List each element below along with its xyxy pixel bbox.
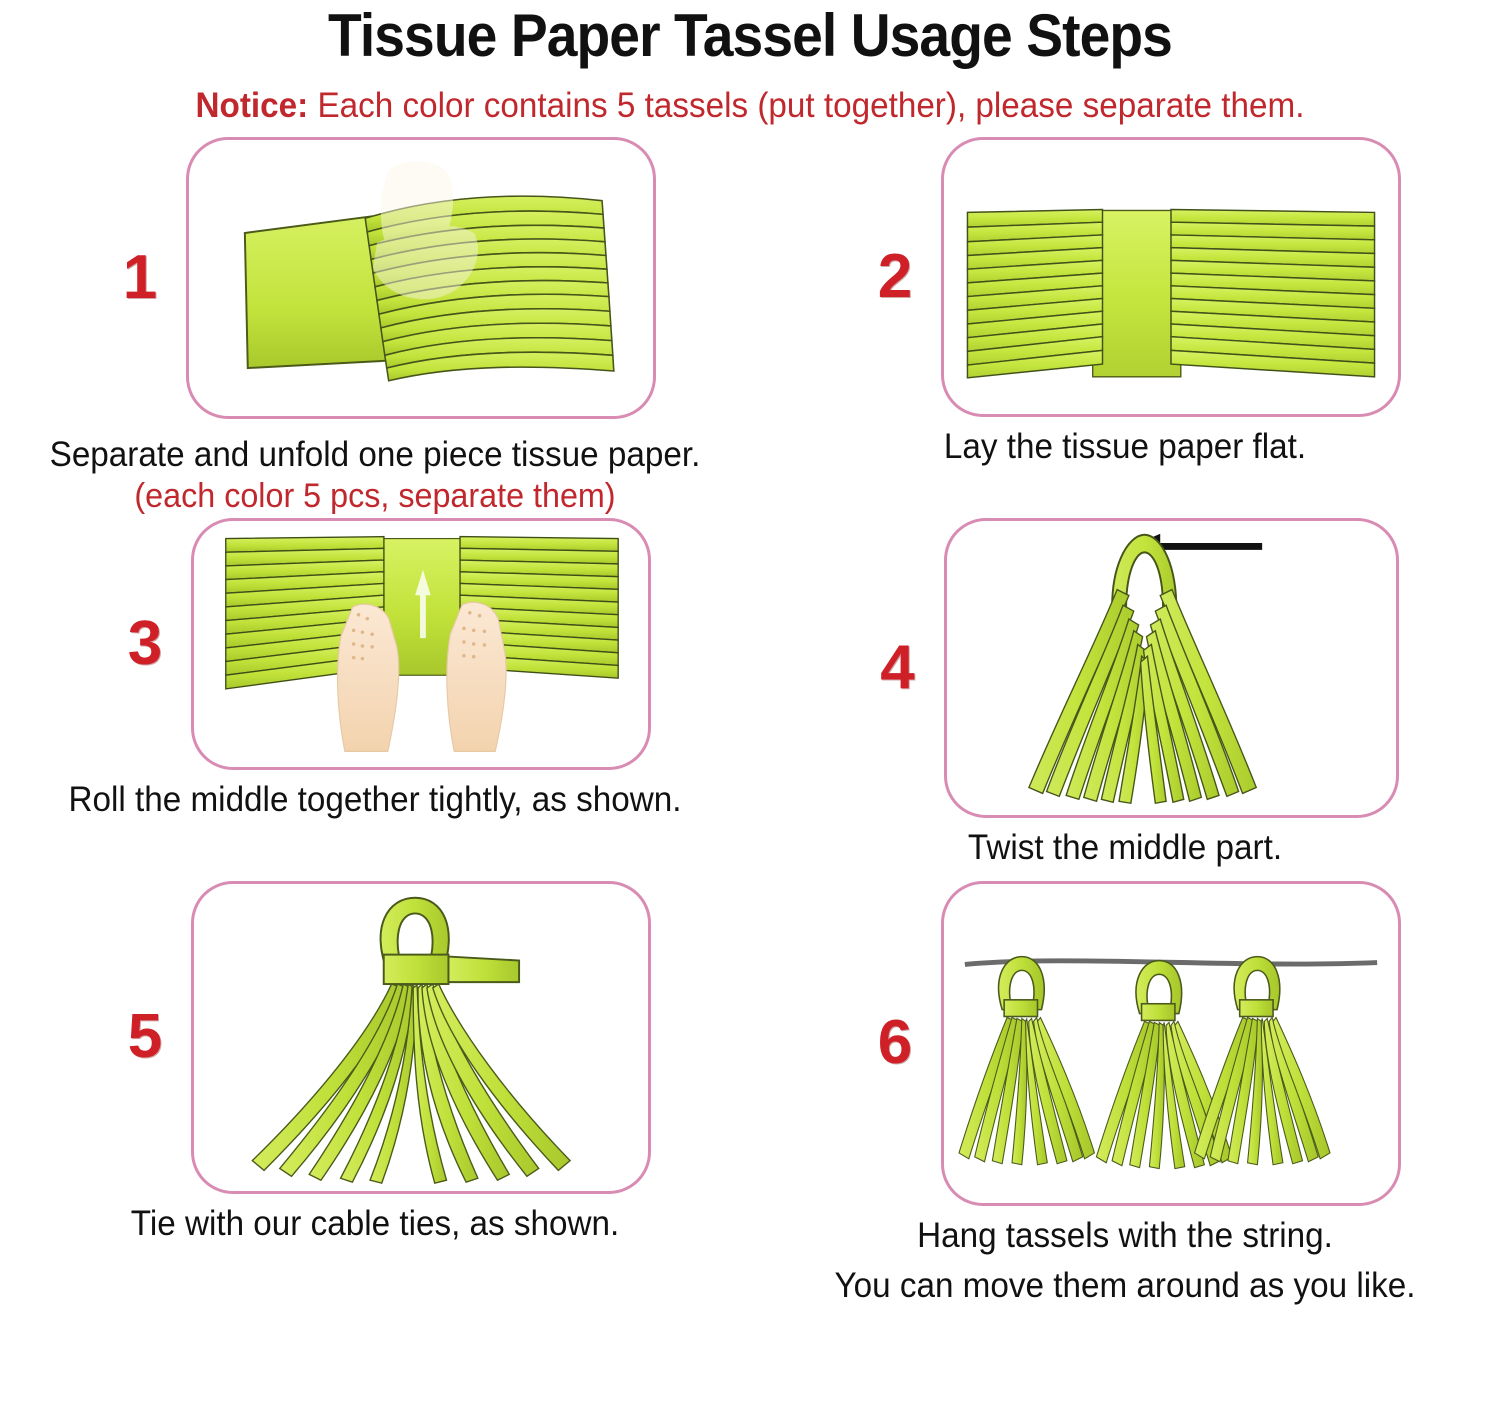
- step-cell-4: 4: [750, 518, 1500, 868]
- cable-tie: [384, 954, 519, 983]
- step-illustration-2: [941, 137, 1401, 417]
- step-number-6: 6: [849, 1012, 941, 1074]
- step-caption-1: Separate and unfold one piece tissue pap…: [19, 435, 732, 475]
- flat-fringed-tissue-icon: [944, 140, 1398, 414]
- step-number-4: 4: [852, 637, 944, 699]
- step-cell-3: 3: [0, 518, 750, 868]
- step-caption-4: Twist the middle part.: [769, 828, 1482, 868]
- step-illustration-1: [186, 137, 656, 419]
- step-number-2: 2: [849, 246, 941, 308]
- folded-tassel-loop-with-arrow-icon: [947, 521, 1396, 815]
- step-caption-sub-6: You can move them around as you like.: [769, 1266, 1482, 1306]
- notice-line: Notice: Each color contains 5 tassels (p…: [38, 88, 1463, 123]
- step-number-3: 3: [99, 613, 191, 675]
- step-illustration-3: [191, 518, 651, 770]
- tassel: [959, 956, 1094, 1164]
- steps-grid: 1: [0, 137, 1500, 1306]
- step-cell-1: 1: [0, 137, 750, 516]
- notice-label: Notice:: [196, 86, 309, 125]
- step-illustration-4: [944, 518, 1399, 818]
- step-illustration-5: [191, 881, 651, 1194]
- step-cell-5: 5: [0, 881, 750, 1307]
- step-caption-2: Lay the tissue paper flat.: [769, 427, 1482, 467]
- step-caption-3: Roll the middle together tightly, as sho…: [19, 780, 732, 820]
- step-caption-6: Hang tassels with the string.: [769, 1216, 1482, 1256]
- step-number-1: 1: [94, 247, 186, 309]
- page-title: Tissue Paper Tassel Usage Steps: [60, 0, 1440, 66]
- step-cell-2: 2: [750, 137, 1500, 516]
- step-number-5: 5: [99, 1006, 191, 1068]
- fanned-fringed-tissue-stack-icon: [189, 140, 653, 416]
- step-caption-sub-1: (each color 5 pcs, separate them): [19, 477, 732, 516]
- step-illustration-6: [941, 881, 1401, 1206]
- notice-text: Each color contains 5 tassels (put toget…: [308, 86, 1304, 125]
- three-tassels-on-string-icon: [944, 884, 1398, 1203]
- step-caption-5: Tie with our cable ties, as shown.: [19, 1204, 732, 1244]
- step-cell-6: 6: [750, 881, 1500, 1307]
- tied-tassel-with-cable-tie-icon: [194, 884, 648, 1191]
- hands-rolling-middle-icon: [194, 521, 648, 767]
